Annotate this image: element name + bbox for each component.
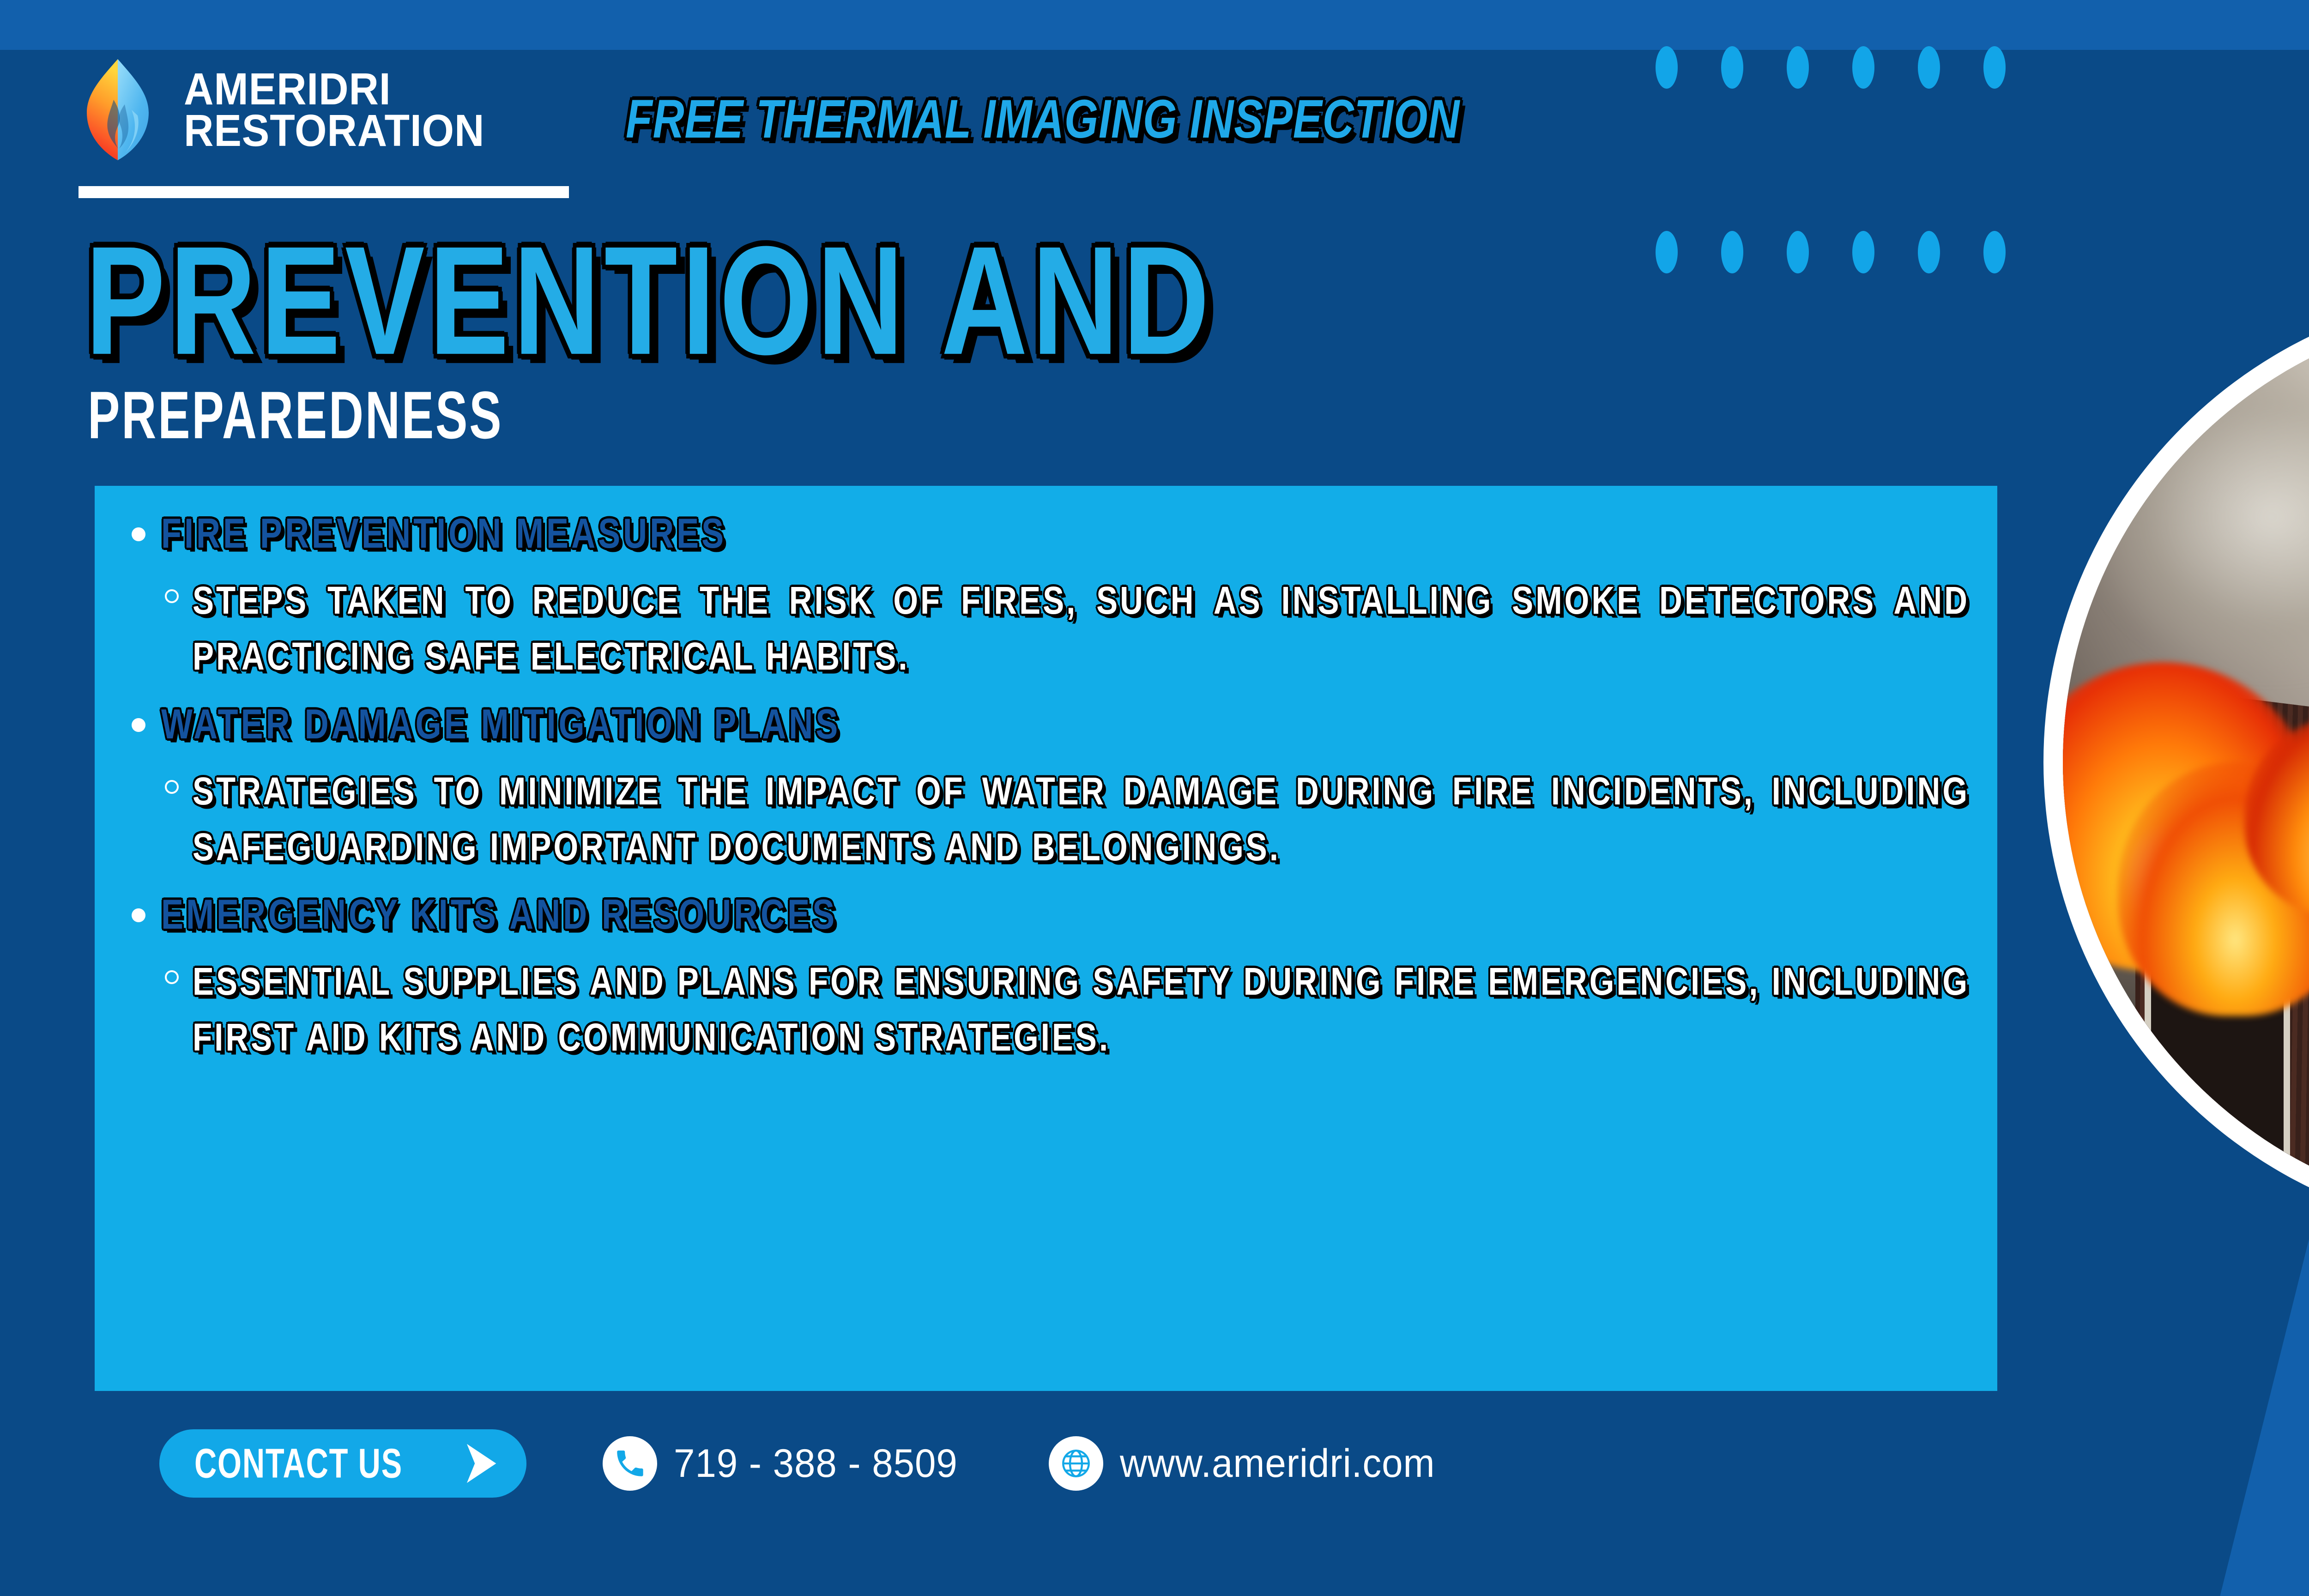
top-accent-strip — [0, 0, 2309, 50]
globe-icon — [1049, 1436, 1103, 1491]
phone-number: 719 - 388 - 8509 — [674, 1441, 958, 1487]
grid-dot — [1918, 231, 1940, 273]
page-title-line2: PREPAREDNESS — [88, 376, 503, 454]
hollow-bullet-icon — [165, 589, 179, 603]
grid-dot — [1983, 231, 2006, 273]
house-fire-photo-frame — [2043, 289, 2309, 1235]
grid-dot — [1918, 46, 1940, 89]
grid-dot — [1787, 46, 1809, 89]
phone-icon — [603, 1436, 657, 1491]
block-detail: STEPS TAKEN TO REDUCE THE RISK OF FIRES,… — [193, 573, 1970, 684]
website-contact[interactable]: www.ameridri.com — [1049, 1436, 1451, 1491]
bullet-level1-row: WATER DAMAGE MITIGATION PLANS — [132, 701, 1970, 738]
block-detail: ESSENTIAL SUPPLIES AND PLANS FOR ENSURIN… — [193, 954, 1970, 1065]
contact-us-label: CONTACT US — [194, 1440, 403, 1487]
website-url: www.ameridri.com — [1120, 1441, 1435, 1487]
grid-dot — [1721, 46, 1743, 89]
brand-name-line1: AMERIDRI — [184, 68, 484, 109]
grid-dot — [1852, 46, 1874, 89]
dot-grid-middle — [1656, 231, 2006, 273]
phone-contact[interactable]: 719 - 388 - 8509 — [603, 1436, 973, 1491]
contact-us-button[interactable]: CONTACT US — [159, 1429, 526, 1498]
content-block: EMERGENCY KITS AND RESOURCES ESSENTIAL S… — [132, 891, 1970, 1046]
hollow-bullet-icon — [165, 780, 179, 794]
grid-dot — [1787, 231, 1809, 273]
content-card: FIRE PREVENTION MEASURES STEPS TAKEN TO … — [95, 486, 1997, 1391]
dot-grid-top — [1656, 46, 2006, 89]
arrow-right-icon — [455, 1441, 500, 1486]
bullet-level2-row: ESSENTIAL SUPPLIES AND PLANS FOR ENSURIN… — [132, 954, 1970, 1046]
block-heading: FIRE PREVENTION MEASURES — [161, 510, 726, 557]
block-detail: STRATEGIES TO MINIMIZE THE IMPACT OF WAT… — [193, 763, 1970, 875]
brand-underline-bar — [79, 186, 569, 198]
filled-bullet-icon — [132, 718, 145, 732]
grid-dot — [1656, 231, 1678, 273]
grid-dot — [1983, 46, 2006, 89]
bullet-level1-row: EMERGENCY KITS AND RESOURCES — [132, 891, 1970, 929]
page-title-line1: PREVENTION AND — [85, 212, 1214, 390]
content-block: FIRE PREVENTION MEASURES STEPS TAKEN TO … — [132, 510, 1970, 665]
filled-bullet-icon — [132, 527, 145, 541]
bullet-level2-row: STEPS TAKEN TO REDUCE THE RISK OF FIRES,… — [132, 573, 1970, 665]
footer-contact-bar: CONTACT US 719 - 388 - 8509 — [159, 1429, 1451, 1498]
hollow-bullet-icon — [165, 970, 179, 984]
brand-name-line2: RESTORATION — [184, 110, 484, 151]
bullet-level2-row: STRATEGIES TO MINIMIZE THE IMPACT OF WAT… — [132, 763, 1970, 855]
flame-water-drop-circle-icon — [69, 55, 166, 164]
promo-banner-text: FREE THERMAL IMAGING INSPECTION — [626, 88, 1460, 151]
brand-wordmark: AMERIDRI RESTORATION — [184, 68, 511, 151]
grid-dot — [1852, 231, 1874, 273]
filled-bullet-icon — [132, 908, 145, 922]
content-block: WATER DAMAGE MITIGATION PLANS STRATEGIES… — [132, 701, 1970, 855]
grid-dot — [1721, 231, 1743, 273]
brand-lockup: AMERIDRI RESTORATION — [69, 55, 511, 164]
grid-dot — [1656, 46, 1678, 89]
house-fire-photo — [2063, 308, 2309, 1216]
bullet-level1-row: FIRE PREVENTION MEASURES — [132, 510, 1970, 548]
block-heading: WATER DAMAGE MITIGATION PLANS — [161, 701, 840, 748]
poster-canvas: AMERIDRI RESTORATION FREE THERMAL IMAGIN… — [0, 0, 2309, 1596]
block-heading: EMERGENCY KITS AND RESOURCES — [161, 891, 837, 938]
